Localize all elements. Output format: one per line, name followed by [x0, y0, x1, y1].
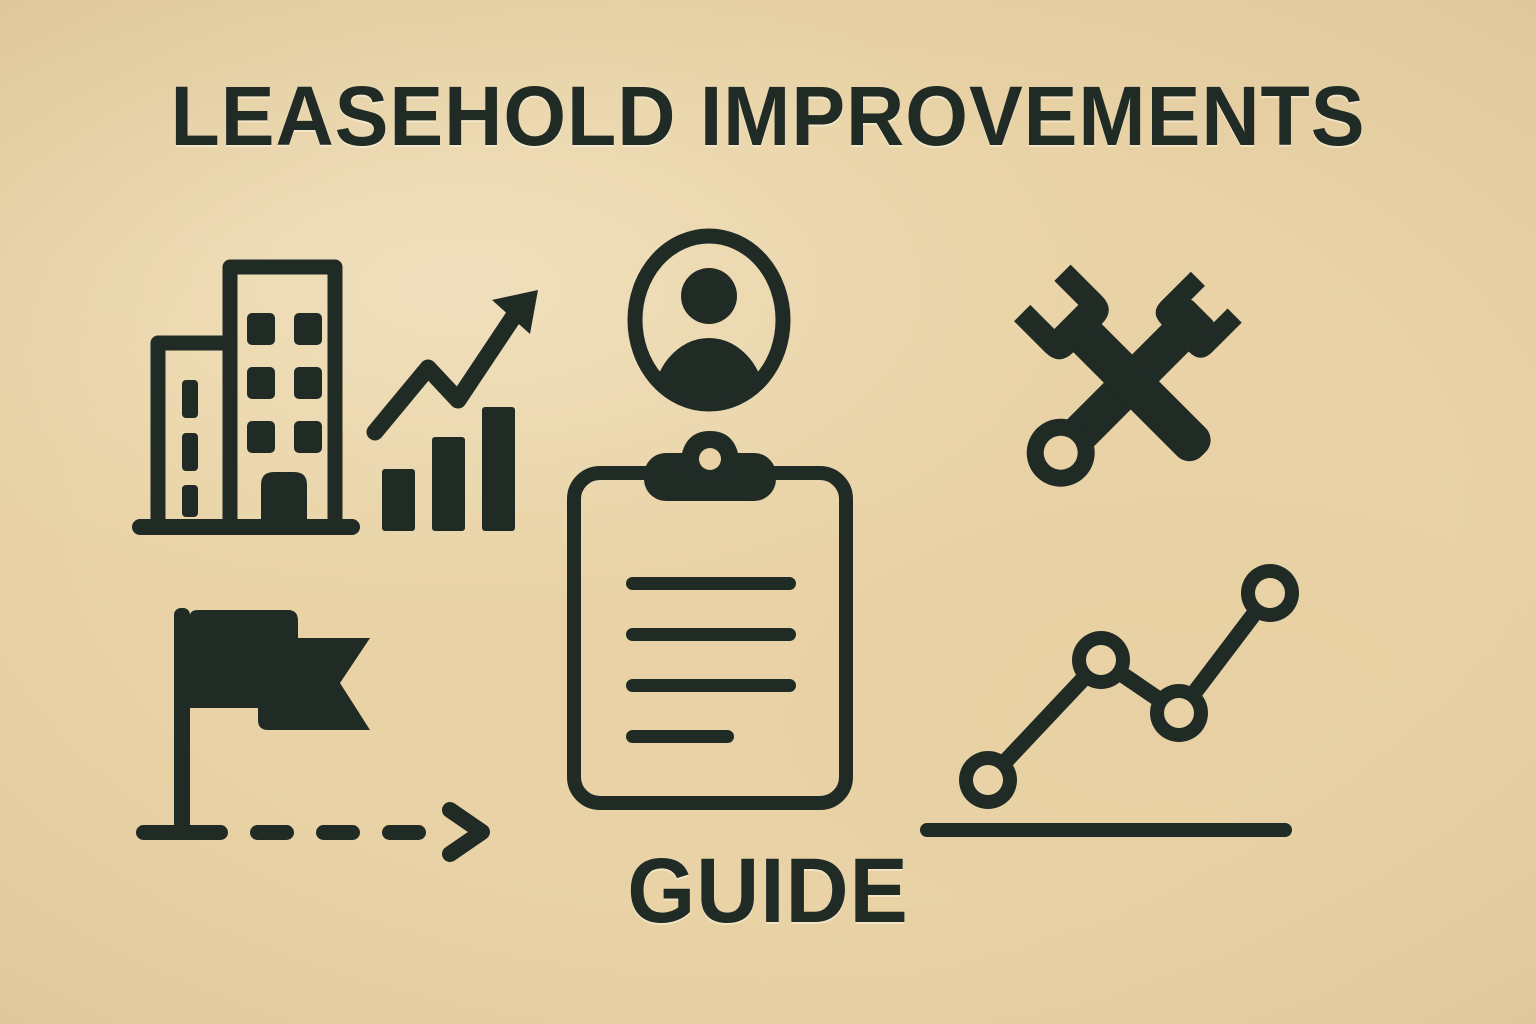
clipboard-icon	[562, 425, 862, 815]
crossed-wrenches-icon	[995, 245, 1265, 520]
growth-bar-chart-icon	[370, 282, 545, 540]
line-chart-icon	[915, 555, 1305, 845]
person-avatar-icon	[622, 224, 802, 424]
poster-canvas: LEASEHOLD IMPROVEMENTS	[0, 0, 1536, 1024]
flag-milestone-icon	[132, 600, 532, 845]
page-title: LEASEHOLD IMPROVEMENTS	[31, 74, 1506, 158]
page-subtitle: GUIDE	[38, 845, 1497, 937]
office-building-icon	[130, 255, 366, 540]
